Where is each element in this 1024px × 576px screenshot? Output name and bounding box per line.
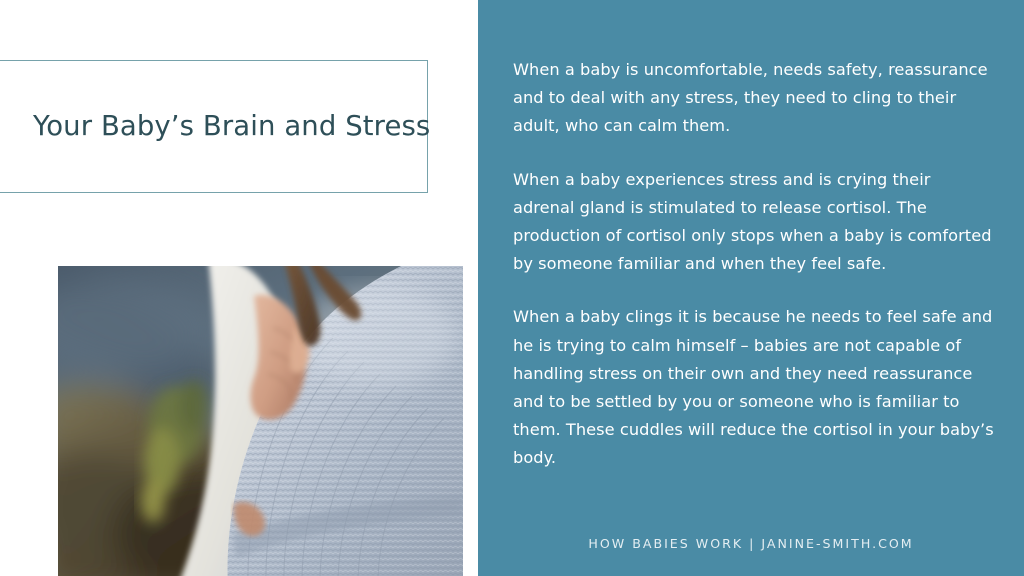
content-panel: When a baby is uncomfortable, needs safe… [478,0,1024,576]
footer-attribution: HOW BABIES WORK | JANINE-SMITH.COM [478,536,1024,551]
paragraph-2: When a baby experiences stress and is cr… [513,166,995,279]
slide: Your Baby’s Brain and Stress [0,0,1024,576]
photo-baby-clinging [58,266,463,576]
paragraph-3: When a baby clings it is because he need… [513,303,995,472]
panel-body: When a baby is uncomfortable, needs safe… [513,56,995,473]
page-title: Your Baby’s Brain and Stress [0,109,427,143]
paragraph-1: When a baby is uncomfortable, needs safe… [513,56,995,141]
photo-illustration [58,266,463,576]
title-box: Your Baby’s Brain and Stress [0,60,428,193]
